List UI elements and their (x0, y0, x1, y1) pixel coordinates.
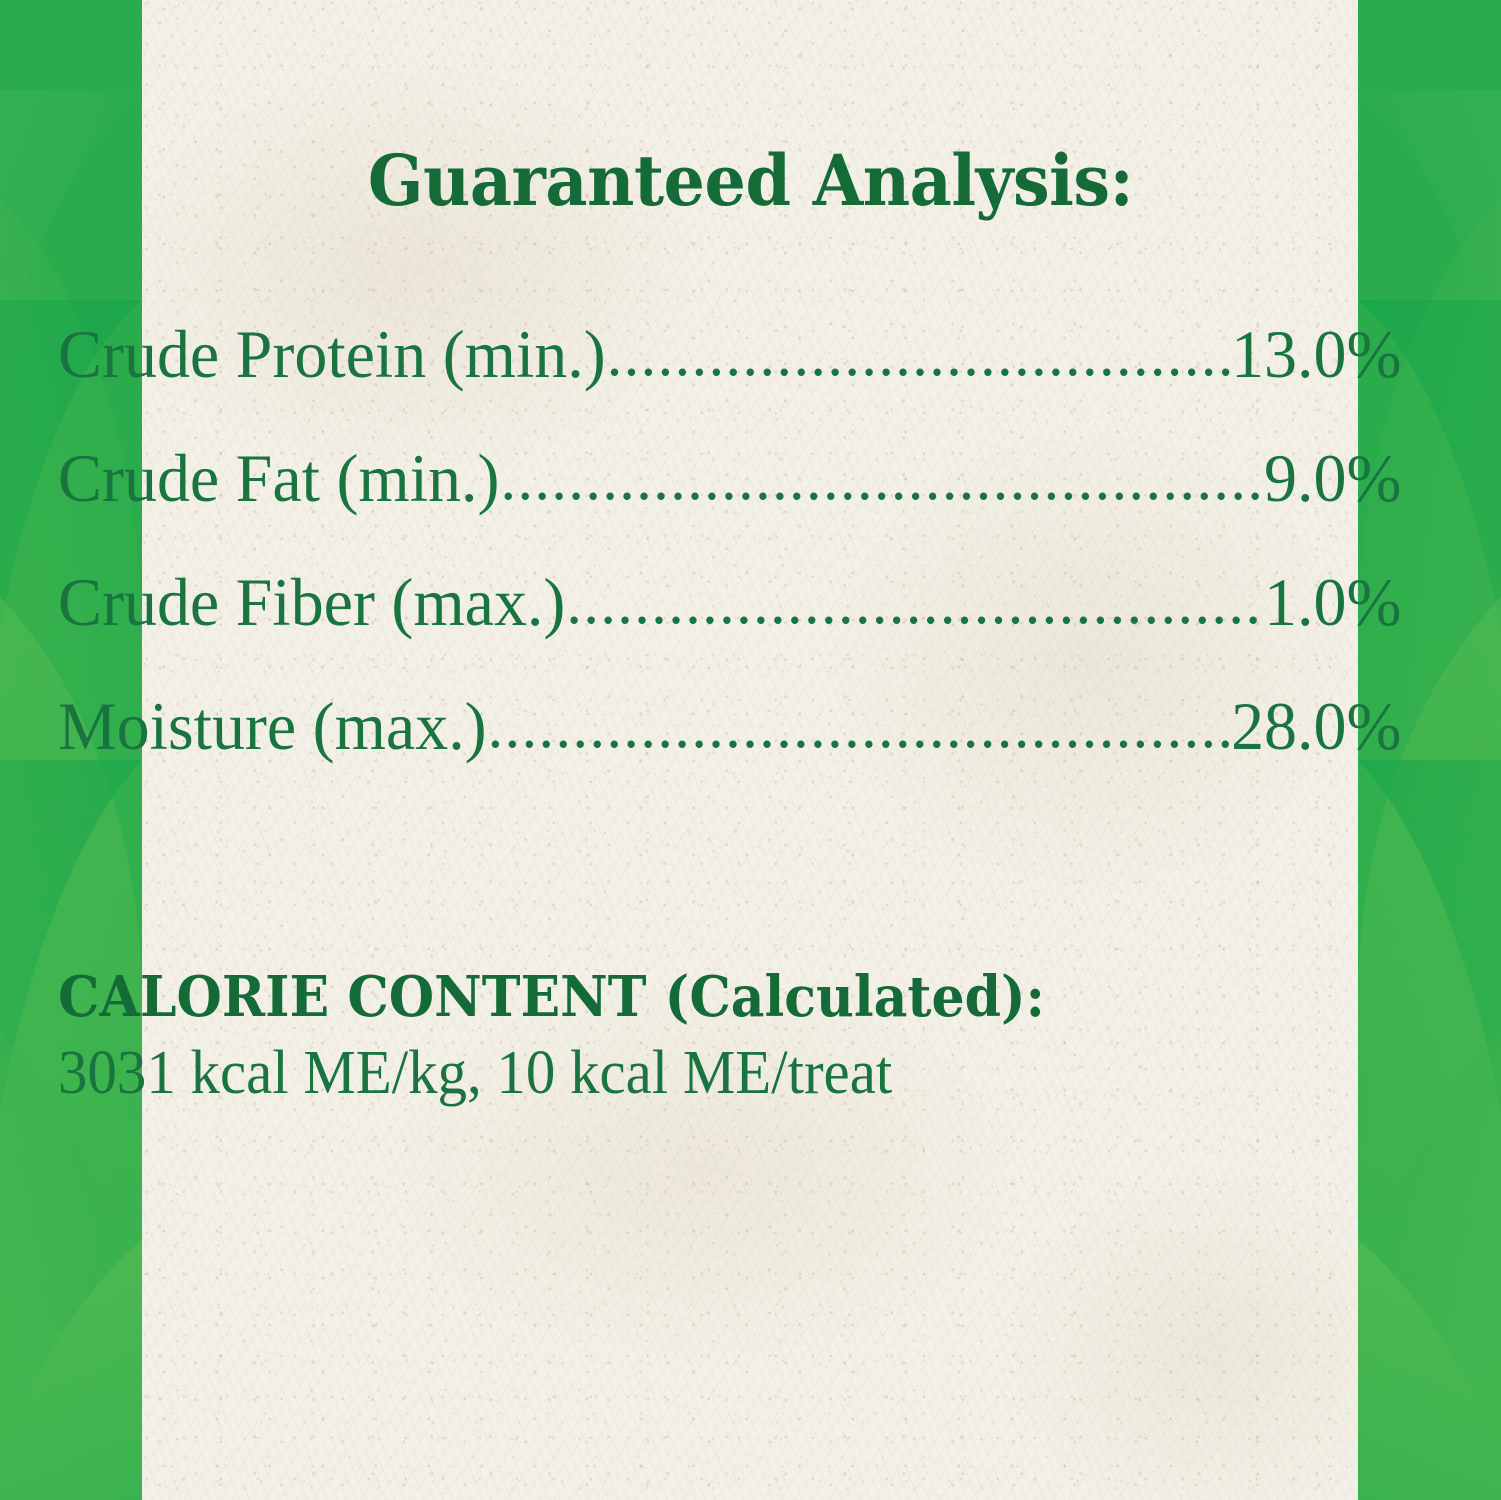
ga-nutrient-value: 9.0% (1264, 444, 1401, 512)
calorie-content-value: 3031 kcal ME/kg, 10 kcal ME/treat (58, 1041, 1374, 1106)
ga-row-crude-fiber: Crude Fiber (max.) 1.0% (58, 568, 1401, 692)
dot-leader (488, 694, 1230, 758)
label-content: Guaranteed Analysis: Crude Protein (min.… (0, 0, 1501, 1500)
ga-nutrient-value: 13.0% (1231, 320, 1401, 388)
dot-leader (500, 446, 1263, 510)
ga-row-crude-protein: Crude Protein (min.) 13.0% (58, 320, 1401, 444)
guaranteed-analysis-title: Guaranteed Analysis: (106, 0, 1394, 216)
ga-nutrient-label: Crude Fat (min.) (58, 444, 500, 512)
ga-row-moisture: Moisture (max.) 28.0% (58, 692, 1401, 816)
guaranteed-analysis-list: Crude Protein (min.) 13.0% Crude Fat (mi… (58, 320, 1443, 816)
ga-nutrient-value: 1.0% (1264, 568, 1401, 636)
calorie-content-heading: CALORIE CONTENT (Calculated): (58, 968, 1346, 1027)
dot-leader (607, 322, 1230, 386)
ga-nutrient-label: Crude Protein (min.) (58, 320, 606, 388)
calorie-content-block: CALORIE CONTENT (Calculated): 3031 kcal … (58, 968, 1443, 1106)
ga-nutrient-label: Crude Fiber (max.) (58, 568, 565, 636)
ga-nutrient-value: 28.0% (1231, 692, 1401, 760)
ga-row-crude-fat: Crude Fat (min.) 9.0% (58, 444, 1401, 568)
dot-leader (566, 570, 1263, 634)
pet-food-label-panel: Guaranteed Analysis: Crude Protein (min.… (0, 0, 1501, 1500)
ga-nutrient-label: Moisture (max.) (58, 692, 487, 760)
